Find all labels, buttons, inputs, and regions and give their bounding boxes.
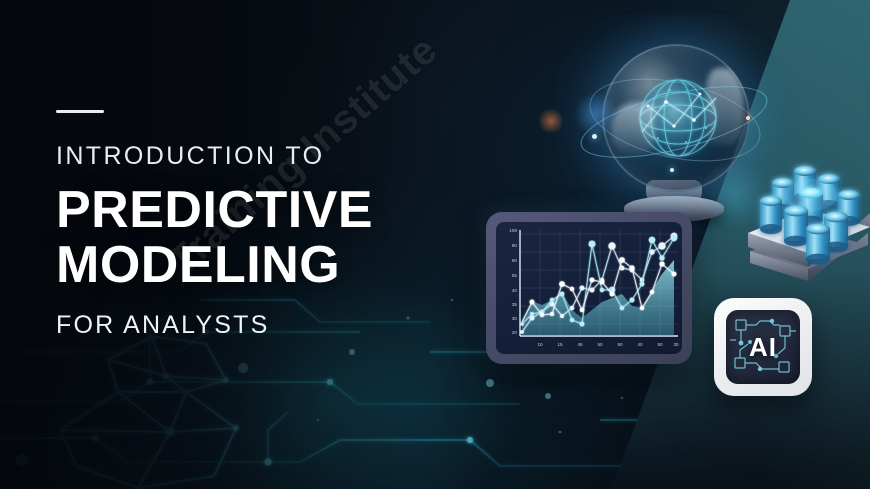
server-pillars — [742, 133, 870, 281]
svg-text:50: 50 — [657, 342, 663, 347]
headline-subline: FOR ANALYSTS — [56, 311, 476, 340]
headline-block: INTRODUCTION TO PREDICTIVE MODELING FOR … — [56, 110, 476, 340]
svg-text:45: 45 — [577, 342, 583, 347]
svg-text:50: 50 — [617, 342, 623, 347]
svg-text:60: 60 — [512, 258, 518, 263]
headline-title: PREDICTIVE MODELING — [56, 183, 476, 293]
svg-text:30: 30 — [512, 316, 518, 321]
svg-text:40: 40 — [512, 288, 518, 293]
headline-title-line1: PREDICTIVE — [56, 181, 373, 239]
svg-text:10: 10 — [537, 342, 543, 347]
svg-text:100: 100 — [509, 228, 517, 233]
tablet-device: 100 80 60 55 40 35 30 20 10 15 45 50 50 … — [486, 212, 692, 364]
line-chart: 100 80 60 55 40 35 30 20 10 15 45 50 50 … — [496, 222, 682, 354]
svg-text:15: 15 — [557, 342, 563, 347]
svg-text:50: 50 — [597, 342, 603, 347]
headline-kicker: INTRODUCTION TO — [56, 143, 476, 171]
ai-chip-core: AI — [726, 310, 800, 384]
svg-text:35: 35 — [512, 302, 518, 307]
accent-rule — [56, 110, 104, 113]
orbit-spark-1 — [592, 134, 597, 139]
ai-chip-label: AI — [726, 310, 800, 384]
svg-text:55: 55 — [512, 273, 518, 278]
ai-chip: AI — [714, 298, 812, 396]
crystal-ball-graphic — [586, 38, 764, 228]
svg-text:40: 40 — [637, 342, 643, 347]
svg-text:80: 80 — [512, 243, 518, 248]
chart-ytick-labels: 100 80 60 55 40 35 30 20 — [509, 228, 517, 335]
orbit-spark-3 — [746, 116, 750, 120]
headline-title-line2: MODELING — [56, 238, 476, 293]
chart-screen: 100 80 60 55 40 35 30 20 10 15 45 50 50 … — [496, 222, 682, 354]
svg-text:20: 20 — [512, 330, 518, 335]
chart-xtick-labels: 10 15 45 50 50 40 50 30 — [537, 342, 679, 347]
banner-stage: Training Institute INTRODUCTION TO PREDI… — [0, 0, 870, 489]
orbit-spark-2 — [670, 168, 674, 172]
svg-text:30: 30 — [673, 342, 679, 347]
